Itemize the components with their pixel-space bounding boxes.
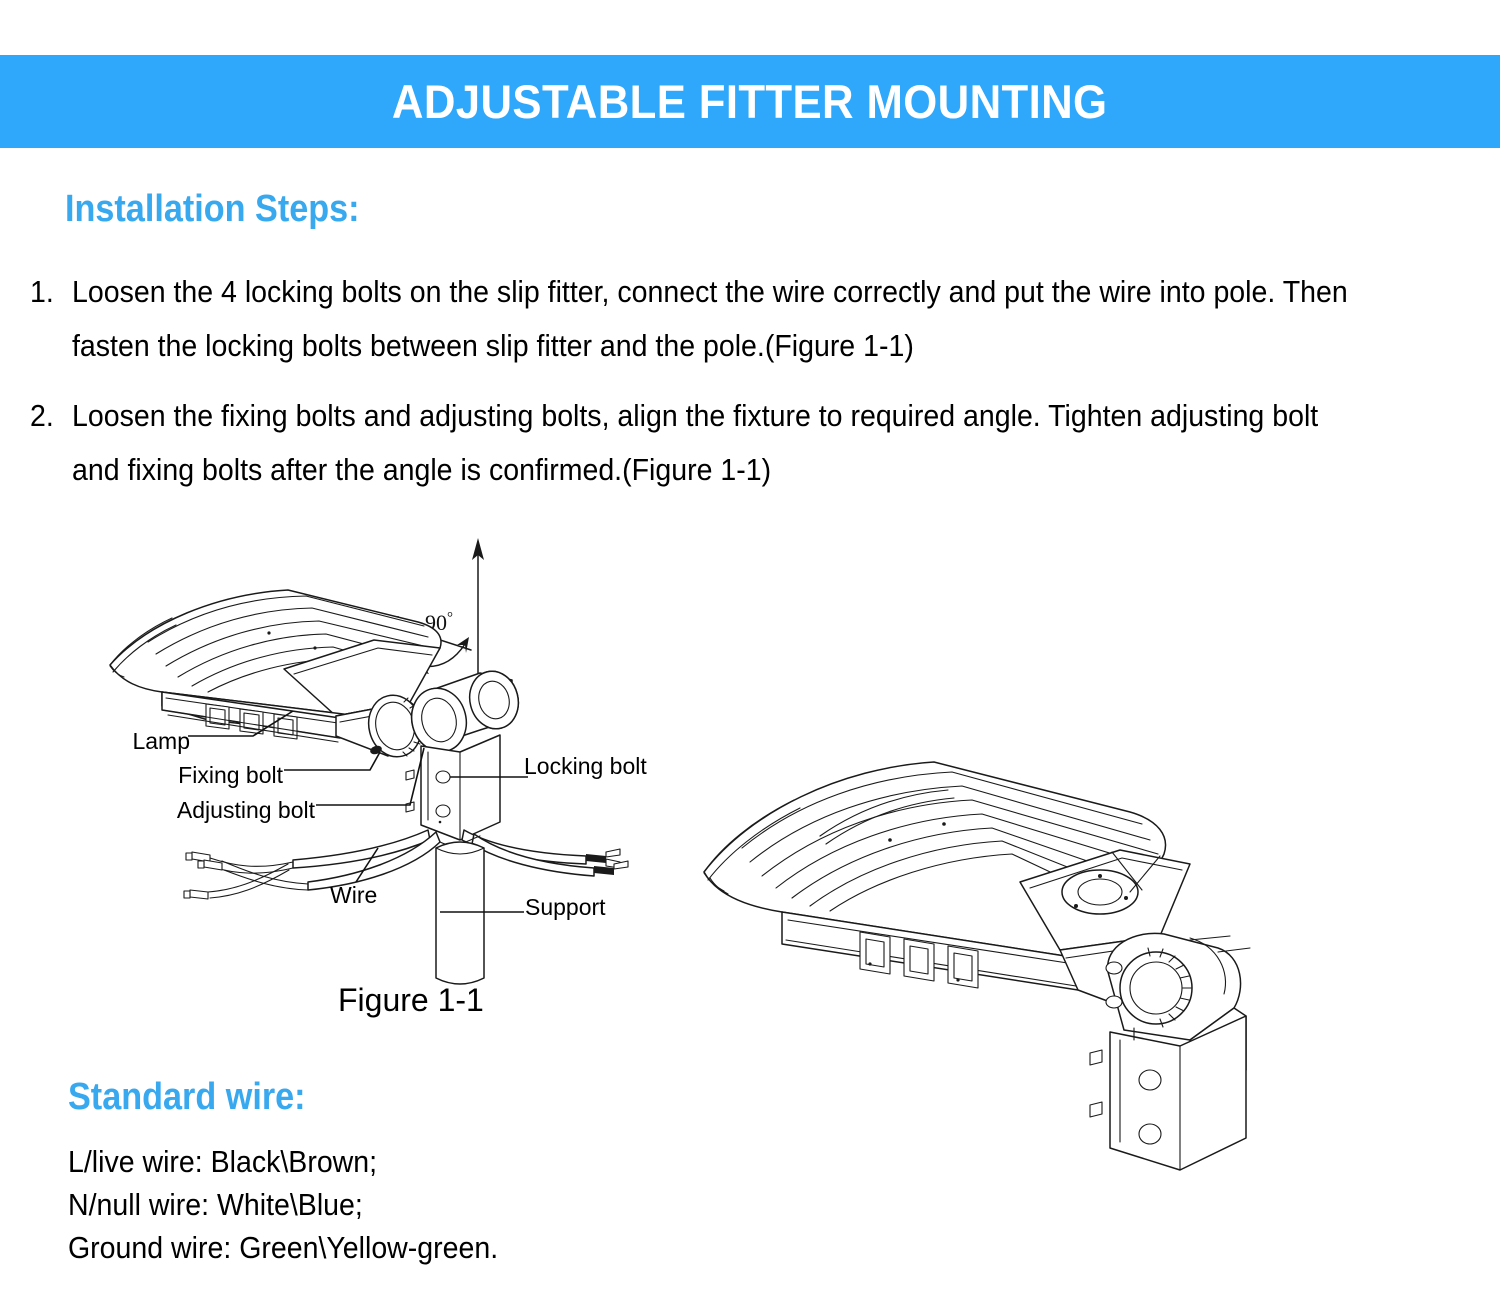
support-pole (436, 842, 484, 984)
wire-ferrules-left (184, 852, 222, 899)
wire-bundle (184, 830, 628, 899)
installation-steps-heading: Installation Steps: (65, 188, 360, 231)
standard-wire-spec-list: L/live wire: Black\Brown; N/null wire: W… (68, 1140, 536, 1269)
arm-side-bolt-nubs (1090, 1050, 1102, 1117)
wire-spec-ground: Ground wire: Green\Yellow-green. (68, 1226, 498, 1269)
installation-steps-list: 1. Loosen the 4 locking bolts on the sli… (30, 265, 1480, 513)
figure-1-1-svg: 90 ° (88, 530, 688, 1050)
diagram-label-adjusting-bolt: Adjusting bolt (0, 797, 315, 824)
fixture-isometric-svg (690, 740, 1270, 1170)
degree-symbol: ° (447, 610, 453, 626)
step-text: Loosen the fixing bolts and adjusting bo… (72, 389, 1367, 497)
diagram-label-wire: Wire (330, 882, 377, 909)
standard-wire-heading: Standard wire: (68, 1076, 306, 1119)
diagram-label-lamp: Lamp (0, 728, 190, 755)
wire-spec-null: N/null wire: White\Blue; (68, 1183, 498, 1226)
slip-fitter-arm (406, 735, 500, 840)
figure-1-1-diagram: 90 ° (88, 530, 688, 1050)
page-title: ADJUSTABLE FITTER MOUNTING (392, 74, 1107, 129)
figure-caption: Figure 1-1 (338, 982, 484, 1019)
page-header-banner: ADJUSTABLE FITTER MOUNTING (0, 55, 1500, 148)
diagram-label-locking-bolt: Locking bolt (524, 753, 647, 780)
step-number: 2. (30, 389, 69, 443)
step-number: 1. (30, 265, 69, 319)
step-text: Loosen the 4 locking bolts on the slip f… (72, 265, 1367, 373)
wire-spec-live: L/live wire: Black\Brown; (68, 1140, 498, 1183)
fixture-isometric-diagram (690, 740, 1270, 1170)
diagram-label-support: Support (525, 894, 606, 921)
list-item: 1. Loosen the 4 locking bolts on the sli… (30, 265, 1480, 373)
diagram-label-fixing-bolt: Fixing bolt (0, 762, 283, 789)
list-item: 2. Loosen the fixing bolts and adjusting… (30, 389, 1480, 497)
knuckle-and-slip-fitter (1090, 933, 1246, 1170)
